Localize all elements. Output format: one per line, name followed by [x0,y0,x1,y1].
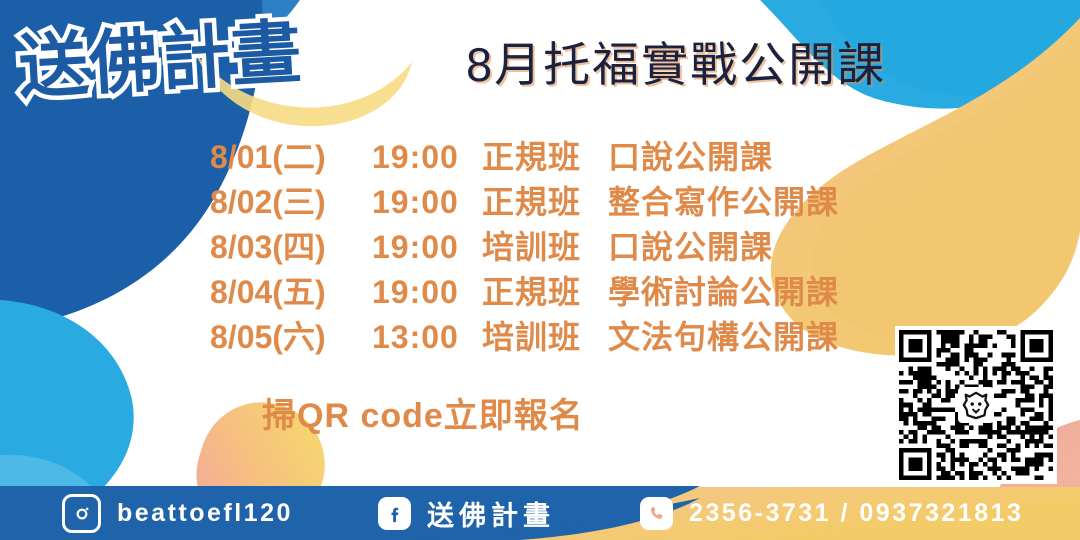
schedule-class: 培訓班 [482,312,608,358]
schedule-row: 8/01(二) 19:00 正規班 口說公開課 [210,132,910,177]
schedule-date: 8/03(四) [210,222,372,268]
schedule-course: 文法句構公開課 [608,312,839,358]
schedule-course: 整合寫作公開課 [608,177,839,223]
phone-number: 2356-3731 / 0937321813 [689,499,1023,528]
brand-logo-text: 送佛計畫 [15,0,304,113]
schedule-row: 8/02(三) 19:00 正規班 整合寫作公開課 [210,177,910,222]
facebook-page-name: 送佛計畫 [427,494,555,533]
schedule-time: 13:00 [372,319,482,356]
schedule-date: 8/01(二) [210,132,372,178]
schedule-course: 口說公開課 [608,222,773,268]
instagram-handle: beattoefl120 [117,499,293,528]
schedule-row: 8/05(六) 13:00 培訓班 文法句構公開課 [210,312,910,357]
instagram-icon [62,494,101,533]
schedule-time: 19:00 [372,229,482,266]
schedule-time: 19:00 [372,139,482,176]
schedule-time: 19:00 [372,184,482,221]
schedule-row: 8/03(四) 19:00 培訓班 口說公開課 [210,222,910,267]
schedule-class: 正規班 [482,132,608,178]
schedule-date: 8/02(三) [210,177,372,223]
instagram-link[interactable]: beattoefl120 [62,487,293,540]
schedule-class: 正規班 [482,177,608,223]
schedule-date: 8/04(五) [210,267,372,313]
page-title: 8月托福實戰公開課 [466,26,886,95]
schedule-time: 19:00 [372,274,482,311]
schedule-class: 培訓班 [482,222,608,268]
brand-logo: 送佛計畫 [18,4,418,100]
schedule-date: 8/05(六) [210,312,372,358]
facebook-link[interactable]: 送佛計畫 [378,487,555,540]
schedule-list: 8/01(二) 19:00 正規班 口說公開課 8/02(三) 19:00 正規… [210,132,910,357]
phone-contact[interactable]: 2356-3731 / 0937321813 [640,487,1023,540]
facebook-icon [378,497,411,530]
schedule-class: 正規班 [482,267,608,313]
schedule-course: 學術討論公開課 [608,267,839,313]
cta-text: 掃QR code立即報名 [262,388,584,437]
footer-bar: beattoefl120 送佛計畫 2356-3731 / 0937321813 [0,487,1080,540]
schedule-row: 8/04(五) 19:00 正規班 學術討論公開課 [210,267,910,312]
qr-code[interactable] [895,326,1057,484]
schedule-course: 口說公開課 [608,132,773,178]
lion-icon [958,387,994,423]
phone-icon [640,497,673,530]
poster-canvas: 送佛計畫 8月托福實戰公開課 8/01(二) 19:00 正規班 口說公開課 8… [0,0,1080,540]
